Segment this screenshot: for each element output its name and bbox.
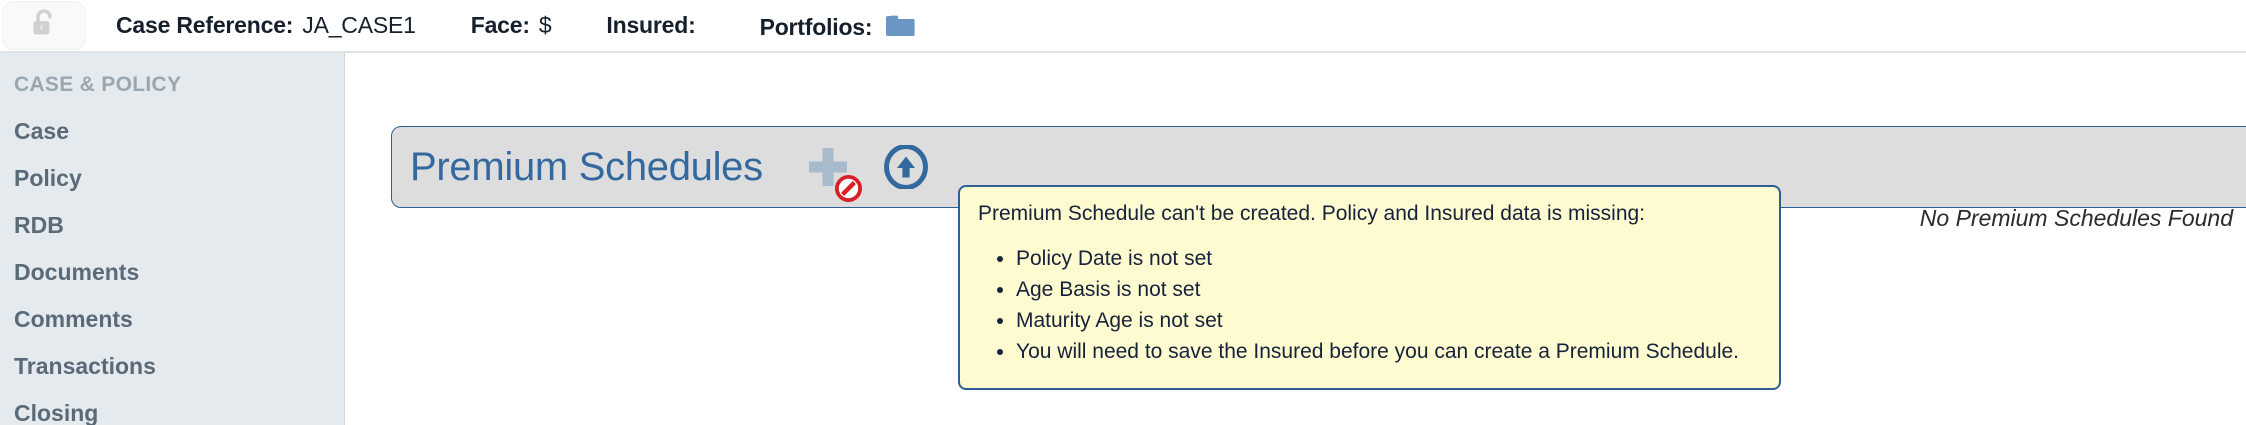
empty-state-message: No Premium Schedules Found <box>1920 205 2233 232</box>
tooltip-bullet-list: Policy Date is not set Age Basis is not … <box>978 244 1761 366</box>
circle-up-arrow-icon <box>884 176 928 193</box>
unlocked-padlock-icon <box>31 8 57 43</box>
face-amount-field: Face: $ <box>471 12 552 39</box>
add-premium-schedule-button[interactable] <box>806 145 850 189</box>
face-amount-value: $ <box>539 12 552 39</box>
sidebar-item-case[interactable]: Case <box>0 108 344 155</box>
sidebar-section-heading: CASE & POLICY <box>0 53 344 97</box>
lock-status-button[interactable] <box>2 1 86 50</box>
portfolios-field: Portfolios: <box>760 10 916 41</box>
insured-field: Insured: <box>606 12 704 39</box>
list-item: Policy Date is not set <box>1016 244 1761 274</box>
main-content-area: Premium Schedules <box>346 53 2246 425</box>
page-title: Premium Schedules <box>410 145 763 190</box>
sidebar-item-label: Policy <box>14 165 82 191</box>
tooltip-lead-text: Premium Schedule can't be created. Polic… <box>978 200 1761 228</box>
folder-icon[interactable] <box>885 13 915 43</box>
list-item: Maturity Age is not set <box>1016 306 1761 336</box>
sidebar-item-label: Closing <box>14 400 98 425</box>
list-item: You will need to save the Insured before… <box>1016 337 1761 367</box>
case-reference-label: Case Reference: <box>116 12 293 39</box>
insured-label: Insured: <box>606 12 695 39</box>
upload-premium-schedule-button[interactable] <box>884 145 928 189</box>
sidebar-item-list: Case Policy RDB Documents Comments Trans… <box>0 108 344 425</box>
case-reference-field: Case Reference: JA_CASE1 <box>116 12 416 39</box>
sidebar-item-label: Case <box>14 118 69 144</box>
sidebar-item-label: Transactions <box>14 353 156 379</box>
sidebar-item-transactions[interactable]: Transactions <box>0 343 344 390</box>
sidebar-item-closing[interactable]: Closing <box>0 390 344 425</box>
sidebar-item-rdb[interactable]: RDB <box>0 202 344 249</box>
sidebar-item-label: Comments <box>14 306 133 332</box>
sidebar-item-comments[interactable]: Comments <box>0 296 344 343</box>
case-reference-value: JA_CASE1 <box>302 12 415 39</box>
sidebar-navigation: CASE & POLICY Case Policy RDB Documents … <box>0 53 345 425</box>
sidebar-item-policy[interactable]: Policy <box>0 155 344 202</box>
list-item: Age Basis is not set <box>1016 275 1761 305</box>
sidebar-item-label: Documents <box>14 259 139 285</box>
sidebar-item-documents[interactable]: Documents <box>0 249 344 296</box>
top-header-bar: Case Reference: JA_CASE1 Face: $ Insured… <box>0 0 2246 53</box>
prohibited-icon <box>835 175 862 202</box>
validation-tooltip: Premium Schedule can't be created. Polic… <box>958 185 1781 390</box>
face-amount-label: Face: <box>471 12 530 39</box>
portfolios-label: Portfolios: <box>760 14 873 41</box>
sidebar-item-label: RDB <box>14 212 64 238</box>
